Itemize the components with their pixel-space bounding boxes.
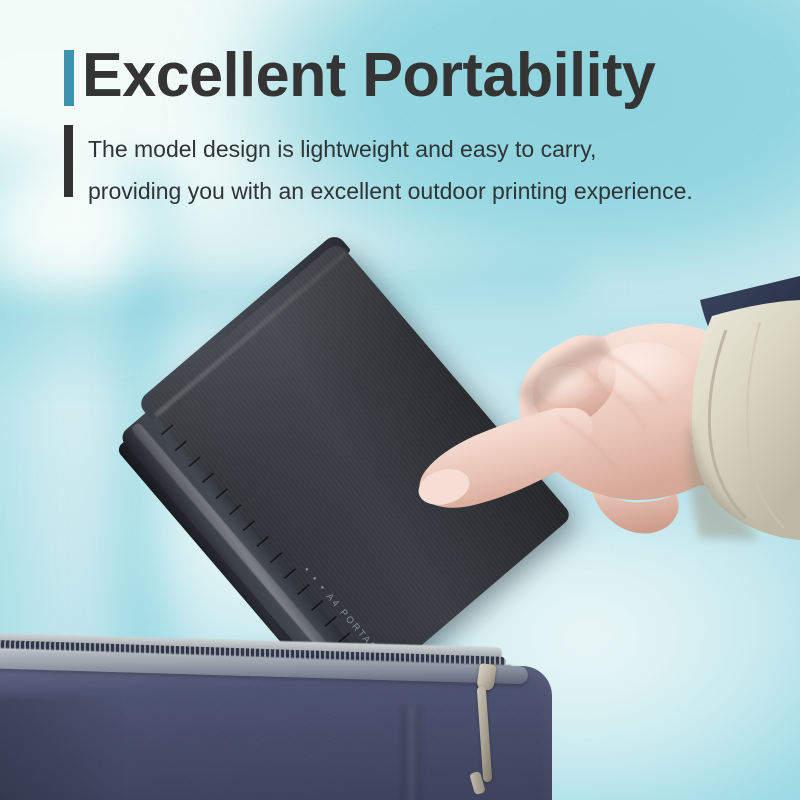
bag-left-shading xyxy=(0,696,122,800)
bag-side-crease xyxy=(402,706,420,800)
carry-bag xyxy=(0,640,572,800)
knuckle-highlight-1 xyxy=(598,342,690,402)
bag-body xyxy=(0,666,552,800)
promo-banner: Excellent Portability The model design i… xyxy=(0,0,800,800)
